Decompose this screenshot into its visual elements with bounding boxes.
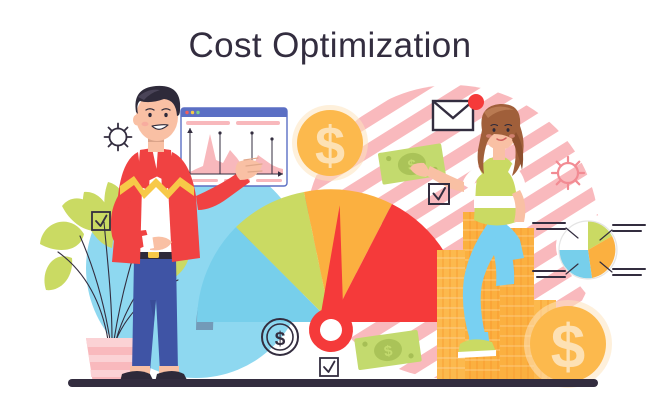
- ground-shadow: [68, 379, 598, 387]
- illustration-canvas: Cost Optimization: [0, 0, 660, 404]
- gear-icon-left[interactable]: [105, 124, 132, 151]
- checkbox-icon-mid[interactable]: [320, 358, 338, 376]
- scene-illustration: $ $ $ $: [0, 0, 660, 404]
- dollar-coin-bottom-right: $: [524, 300, 612, 388]
- browser-window-chart[interactable]: [181, 108, 287, 186]
- coin-stack-left: [437, 250, 465, 380]
- envelope-badge-icon: [468, 94, 484, 110]
- svg-text:$: $: [275, 329, 286, 350]
- dollar-coin-top: $: [292, 105, 368, 181]
- svg-text:$: $: [551, 313, 585, 382]
- dollar-coin-outline-icon[interactable]: $: [262, 319, 298, 355]
- svg-text:$: $: [315, 116, 345, 176]
